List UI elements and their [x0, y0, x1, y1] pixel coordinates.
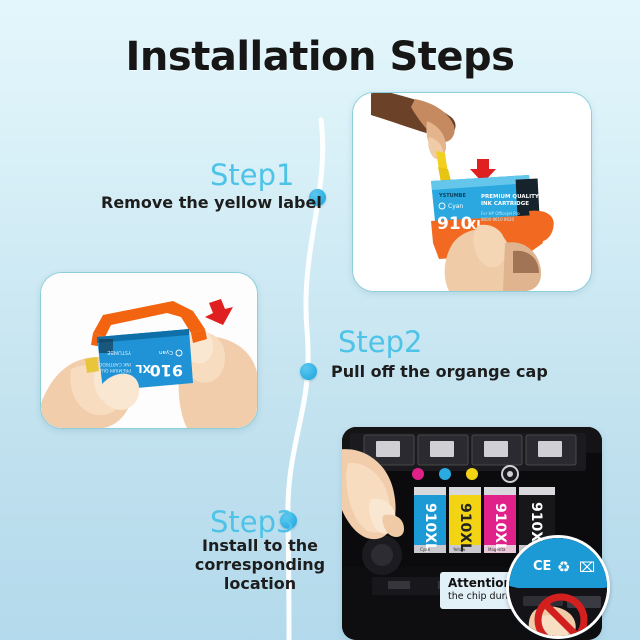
installed-cartridge-magenta: 910XL Magenta — [484, 487, 516, 553]
installed-cartridge-yellow: 910XL Yellow — [449, 487, 481, 553]
svg-text:Cyan: Cyan — [420, 547, 431, 552]
indicator-cyan — [439, 468, 451, 480]
svg-text:8600 8610 8620: 8600 8610 8620 — [481, 217, 515, 222]
step2-heading: Step2 — [338, 325, 422, 359]
installation-steps-poster: Installation Steps — [0, 0, 640, 640]
step1-description: Remove the yellow label — [101, 193, 322, 212]
svg-text:XL: XL — [136, 362, 152, 375]
page-title: Installation Steps — [0, 34, 640, 80]
svg-text:♻: ♻ — [557, 558, 570, 576]
svg-text:YSTUMBE: YSTUMBE — [107, 349, 132, 355]
step1-heading: Step1 — [210, 158, 294, 192]
step3-description: Install to the corresponding location — [180, 536, 340, 593]
svg-text:910: 910 — [150, 361, 183, 380]
indicator-magenta — [412, 468, 424, 480]
svg-text:YSTUMBE: YSTUMBE — [438, 193, 466, 199]
step2-description: Pull off the organge cap — [331, 362, 548, 381]
indicator-yellow — [466, 468, 478, 480]
svg-text:Magenta: Magenta — [488, 547, 506, 552]
svg-text:910XL: 910XL — [457, 503, 473, 552]
svg-text:INK CARTRIDGE: INK CARTRIDGE — [481, 201, 529, 207]
svg-text:Cyan: Cyan — [159, 349, 173, 355]
svg-text:Cyan: Cyan — [448, 203, 463, 210]
step1-photo-peeling-yellow-label: YSTUMBE Cyan 910 XL PREMIUM QUALITY INK … — [353, 93, 591, 291]
step1-photo-card: YSTUMBE Cyan 910 XL PREMIUM QUALITY INK … — [352, 92, 592, 292]
svg-text:CE: CE — [533, 559, 551, 574]
svg-text:910XL: 910XL — [492, 503, 508, 552]
installed-cartridge-cyan: 910XL Cyan — [414, 487, 446, 553]
do-not-touch-chip-callout: CE ♻ ⌧ — [506, 535, 610, 639]
svg-text:PREMIUM QUALITY: PREMIUM QUALITY — [481, 194, 540, 200]
svg-text:For HP Officejet Pro: For HP Officejet Pro — [481, 211, 520, 216]
step-marker-dot-2 — [300, 363, 317, 380]
svg-text:910XL: 910XL — [422, 503, 438, 552]
step3-heading: Step3 — [210, 505, 294, 539]
svg-text:INK CARTRIDGE: INK CARTRIDGE — [96, 361, 131, 367]
svg-text:Yellow: Yellow — [452, 547, 466, 552]
certification-symbols: CE ♻ ⌧ — [533, 558, 595, 576]
step2-photo-pulling-orange-cap: 910 XL Cyan YSTUMBE PREMIUM QUALITY INK … — [41, 273, 257, 428]
svg-text:⌧: ⌧ — [579, 560, 595, 576]
step2-photo-card: 910 XL Cyan YSTUMBE PREMIUM QUALITY INK … — [40, 272, 258, 429]
